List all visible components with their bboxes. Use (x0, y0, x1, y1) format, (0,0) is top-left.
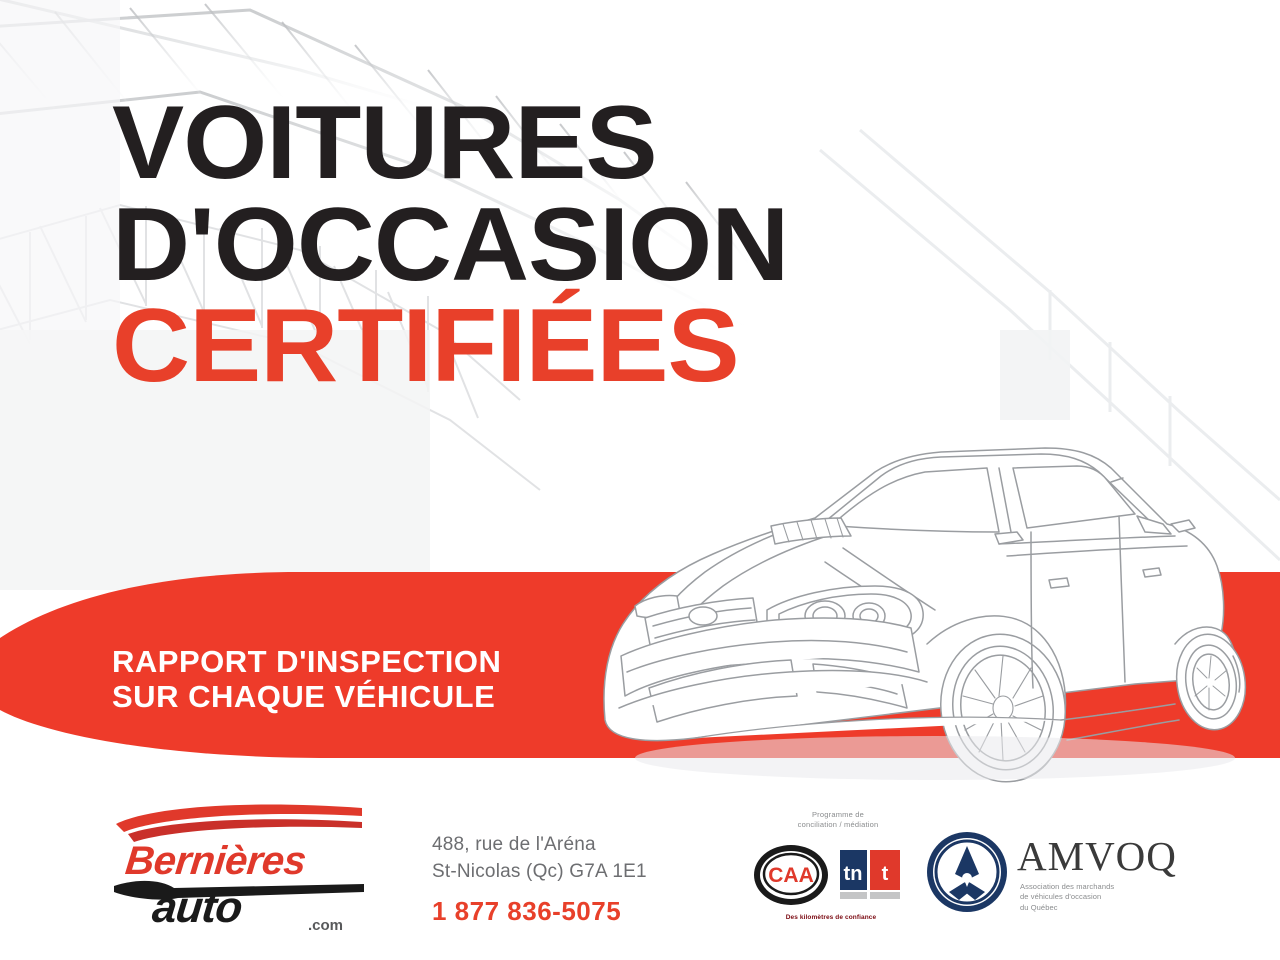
banner-line-1: RAPPORT D'INSPECTION (112, 645, 632, 680)
banner-line-2: SUR CHAQUE VÉHICULE (112, 680, 632, 715)
caa-logo-text: CAA (768, 864, 814, 887)
headline-block: VOITURES D'OCCASION CERTIFIÉES (112, 96, 872, 395)
banner-text-block: RAPPORT D'INSPECTION SUR CHAQUE VÉHICULE (112, 645, 632, 714)
tnt-partner-logo-icon: tn t (840, 846, 900, 902)
caa-partner-block: Programme de conciliation / médiation CA… (748, 810, 928, 930)
amvoq-subtitle-line-2: de véhicules d'occasion (1020, 892, 1180, 902)
sedan-line-art-illustration (575, 420, 1255, 800)
amvoq-partner-block: AMVOQ Association des marchands de véhic… (925, 830, 1185, 930)
amvoq-wordmark: AMVOQ (1017, 836, 1177, 877)
address-street: 488, rue de l'Aréna (432, 832, 647, 859)
address-city: St-Nicolas (Qc) G7A 1E1 (432, 859, 647, 886)
amvoq-subtitle-line-3: du Québec (1020, 903, 1180, 913)
headline-line-3: CERTIFIÉES (112, 299, 902, 395)
caa-program-label: Programme de conciliation / médiation (748, 810, 928, 830)
bernieres-auto-logo[interactable]: Bernières auto .com (112, 800, 374, 930)
advertisement-banner: VOITURES D'OCCASION CERTIFIÉES RAPPORT D… (0, 0, 1280, 960)
caa-tagline: Des kilomètres de confiance (748, 914, 914, 921)
contact-block: 488, rue de l'Aréna St-Nicolas (Qc) G7A … (432, 832, 647, 930)
caa-program-line-1: Programme de (748, 810, 928, 820)
svg-text:tn: tn (844, 863, 863, 885)
amvoq-subtitle: Association des marchands de véhicules d… (1020, 882, 1180, 913)
caa-program-line-2: conciliation / médiation (748, 820, 928, 830)
phone-number[interactable]: 1 877 836-5075 (432, 893, 647, 930)
svg-text:Bernières: Bernières (123, 839, 308, 883)
svg-text:auto: auto (150, 883, 244, 930)
footer: Bernières auto .com 488, rue de l'Aréna … (0, 780, 1280, 960)
headline-line-1: VOITURES (112, 96, 902, 192)
svg-text:t: t (882, 863, 889, 885)
caa-logo-icon: CAA (752, 840, 830, 910)
amvoq-subtitle-line-1: Association des marchands (1020, 882, 1180, 892)
headline-line-2: D'OCCASION (112, 198, 902, 294)
svg-text:.com: .com (308, 917, 343, 930)
amvoq-logo-icon (925, 830, 1009, 914)
